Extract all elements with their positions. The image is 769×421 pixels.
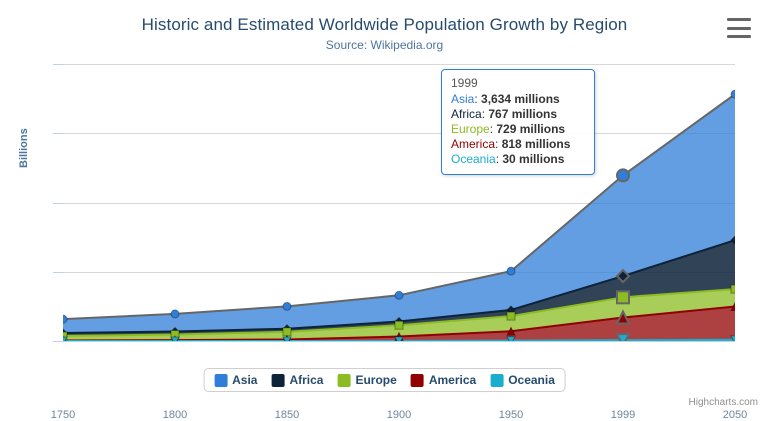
tooltip-row: Asia: 3,634 millions [451, 92, 586, 107]
marker-oceania[interactable] [171, 337, 179, 341]
legend-item-africa[interactable]: Africa [271, 373, 323, 387]
tooltip-series-name: Oceania [451, 152, 496, 166]
legend-swatch [411, 374, 424, 387]
tooltip-row: America: 818 millions [451, 137, 586, 152]
y-axis-tick [53, 133, 63, 134]
hamburger-bar [727, 35, 751, 38]
tooltip-series-value: 767 millions [488, 107, 557, 121]
y-axis-tick [53, 203, 63, 204]
marker-europe[interactable] [395, 321, 403, 329]
hamburger-bar [727, 18, 751, 21]
tooltip-series-value: 30 millions [502, 152, 564, 166]
legend-label: America [429, 373, 476, 387]
marker-asia[interactable] [731, 90, 735, 98]
y-axis-tick [53, 64, 63, 65]
legend-swatch [337, 374, 350, 387]
marker-asia[interactable] [395, 291, 403, 299]
legend-item-europe[interactable]: Europe [337, 373, 396, 387]
legend-label: Asia [232, 373, 257, 387]
legend-swatch [214, 374, 227, 387]
marker-asia[interactable] [283, 302, 291, 310]
tooltip-series-value: 818 millions [502, 137, 571, 151]
x-axis-label: 1900 [387, 409, 411, 421]
marker-europe[interactable] [731, 285, 735, 293]
x-axis-label: 1800 [163, 409, 187, 421]
y-axis-title: Billions [18, 128, 30, 168]
legend-item-asia[interactable]: Asia [214, 373, 257, 387]
x-axis-label: 2050 [723, 409, 747, 421]
credits-link[interactable]: Highcharts.com [689, 397, 758, 408]
marker-europe[interactable] [507, 312, 515, 320]
marker-asia[interactable] [617, 169, 629, 181]
tooltip-series-name: Europe [451, 122, 490, 136]
tooltip-series-name: Asia [451, 92, 474, 106]
tooltip-header: 1999 [451, 76, 586, 90]
legend-item-oceania[interactable]: Oceania [490, 373, 555, 387]
tooltip-row: Europe: 729 millions [451, 122, 586, 137]
legend-swatch [490, 374, 503, 387]
tooltip-series-name: America [451, 137, 495, 151]
x-axis-label: 1850 [275, 409, 299, 421]
y-axis-tick [53, 272, 63, 273]
legend-item-america[interactable]: America [411, 373, 476, 387]
marker-oceania[interactable] [283, 337, 291, 341]
legend-swatch [271, 374, 284, 387]
tooltip-series-value: 729 millions [496, 122, 565, 136]
x-axis-label: 1750 [51, 409, 75, 421]
marker-asia[interactable] [507, 267, 515, 275]
series-layer [63, 64, 735, 341]
y-axis-tick [53, 341, 63, 342]
tooltip-row: Oceania: 30 millions [451, 152, 586, 167]
marker-asia[interactable] [171, 310, 179, 318]
x-axis-label: 1950 [499, 409, 523, 421]
tooltip: 1999 Asia: 3,634 millionsAfrica: 767 mil… [441, 69, 595, 175]
chart-subtitle: Source: Wikipedia.org [0, 38, 769, 52]
marker-oceania[interactable] [617, 334, 629, 341]
legend-label: Oceania [508, 373, 555, 387]
tooltip-series-value: 3,634 millions [481, 92, 560, 106]
y-gridline [63, 341, 735, 342]
legend-label: Europe [355, 373, 396, 387]
hamburger-bar [727, 27, 751, 30]
highcharts-container: Historic and Estimated Worldwide Populat… [0, 0, 769, 416]
marker-asia[interactable] [63, 315, 67, 323]
tooltip-row: Africa: 767 millions [451, 107, 586, 122]
chart-title: Historic and Estimated Worldwide Populat… [0, 15, 769, 35]
hamburger-menu-icon[interactable] [727, 18, 751, 38]
x-axis-label: 1999 [611, 409, 635, 421]
tooltip-series-name: Africa [451, 107, 482, 121]
legend: AsiaAfricaEuropeAmericaOceania [203, 368, 566, 392]
marker-europe[interactable] [617, 291, 629, 303]
legend-label: Africa [289, 373, 323, 387]
